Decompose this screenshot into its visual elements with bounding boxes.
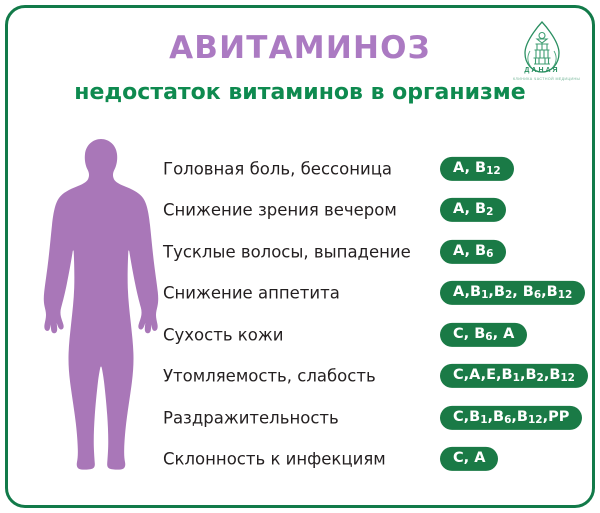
table-row: Раздражительность C,B1,B6,B12,PP: [158, 397, 588, 439]
table-row: Тусклые волосы, выпадение A, B6: [158, 231, 588, 273]
table-row: Сухость кожи C, B6, A: [158, 314, 588, 356]
symptom-label: Тусклые волосы, выпадение: [163, 242, 411, 261]
female-silhouette: [36, 136, 166, 476]
table-row: Снижение аппетита A,B1,B2, B6,B12: [158, 273, 588, 315]
infographic-poster: АВИТАМИНОЗ недостаток витаминов в органи…: [5, 5, 595, 508]
symptom-label: Утомляемость, слабость: [163, 367, 376, 386]
clinic-logo: ДАНАЯ КЛИНИКА ЧАСТНОЙ МЕДИЦИНЫ: [513, 20, 571, 92]
body-silhouette-icon: [36, 136, 166, 476]
page-subtitle: недостаток витаминов в организме: [8, 80, 592, 105]
page-title: АВИТАМИНОЗ: [8, 30, 592, 66]
vitamin-badge: A, B6: [440, 240, 506, 264]
table-row: Снижение зрения вечером A, B2: [158, 190, 588, 232]
vitamin-badge: A,B1,B2, B6,B12: [440, 281, 585, 305]
vitamin-badge: C,A,E,B1,B2,B12: [440, 364, 588, 388]
vitamin-badge: A, B12: [440, 157, 514, 181]
symptom-label: Снижение зрения вечером: [163, 201, 397, 220]
logo-name: ДАНАЯ: [513, 67, 571, 74]
logo-tagline: КЛИНИКА ЧАСТНОЙ МЕДИЦИНЫ: [513, 77, 571, 81]
vitamin-badge: A, B2: [440, 198, 506, 222]
table-row: Головная боль, бессоница A, B12: [158, 148, 588, 190]
table-row: Утомляемость, слабость C,A,E,B1,B2,B12: [158, 356, 588, 398]
symptom-label: Раздражительность: [163, 408, 339, 427]
table-row: Склонность к инфекциям C, A: [158, 439, 588, 481]
symptom-label: Головная боль, бессоница: [163, 159, 392, 178]
poster-header: АВИТАМИНОЗ недостаток витаминов в органи…: [8, 8, 592, 123]
symptom-label: Склонность к инфекциям: [163, 450, 386, 469]
symptom-vitamin-list: Головная боль, бессоница A, B12 Снижение…: [158, 148, 588, 480]
vitamin-badge: C, B6, A: [440, 323, 527, 347]
symptom-label: Сухость кожи: [163, 325, 283, 344]
vitamin-badge: C,B1,B6,B12,PP: [440, 406, 582, 430]
teardrop-leaf-icon: [513, 20, 571, 92]
vitamin-badge: C, A: [440, 447, 498, 471]
symptom-label: Снижение аппетита: [163, 284, 340, 303]
